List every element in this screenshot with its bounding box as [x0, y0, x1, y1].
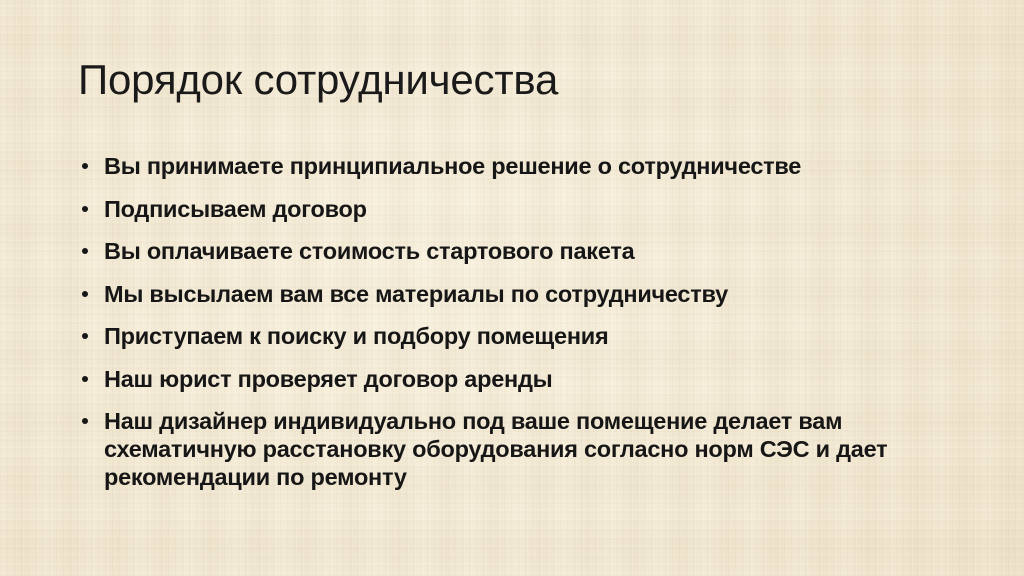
list-item: Наш дизайнер индивидуально под ваше поме… — [78, 407, 958, 491]
list-item-label: Мы высылаем вам все материалы по сотрудн… — [104, 280, 958, 308]
list-item-label: Наш юрист проверяет договор аренды — [104, 365, 958, 393]
list-item-label: Наш дизайнер индивидуально под ваше поме… — [104, 407, 958, 491]
bullet-dot-icon — [82, 163, 88, 169]
list-item: Мы высылаем вам все материалы по сотрудн… — [78, 280, 958, 308]
bullet-dot-icon — [82, 291, 88, 297]
list-item-label: Приступаем к поиску и подбору помещения — [104, 322, 958, 350]
bullet-dot-icon — [82, 333, 88, 339]
list-item: Приступаем к поиску и подбору помещения — [78, 322, 958, 350]
list-item: Подписываем договор — [78, 195, 958, 223]
list-item: Вы оплачиваете стоимость стартового паке… — [78, 237, 958, 265]
bullet-list: Вы принимаете принципиальное решение о с… — [78, 152, 958, 491]
list-item-label: Подписываем договор — [104, 195, 958, 223]
list-item: Наш юрист проверяет договор аренды — [78, 365, 958, 393]
slide-content: Порядок сотрудничества Вы принимаете при… — [0, 0, 1024, 576]
bullet-dot-icon — [82, 376, 88, 382]
list-item-label: Вы принимаете принципиальное решение о с… — [104, 152, 958, 180]
list-item: Вы принимаете принципиальное решение о с… — [78, 152, 958, 180]
list-item-label: Вы оплачиваете стоимость стартового паке… — [104, 237, 958, 265]
bullet-dot-icon — [82, 248, 88, 254]
page-title: Порядок сотрудничества — [78, 57, 558, 102]
bullet-dot-icon — [82, 418, 88, 424]
bullet-dot-icon — [82, 206, 88, 212]
presentation-slide: Порядок сотрудничества Вы принимаете при… — [0, 0, 1024, 576]
